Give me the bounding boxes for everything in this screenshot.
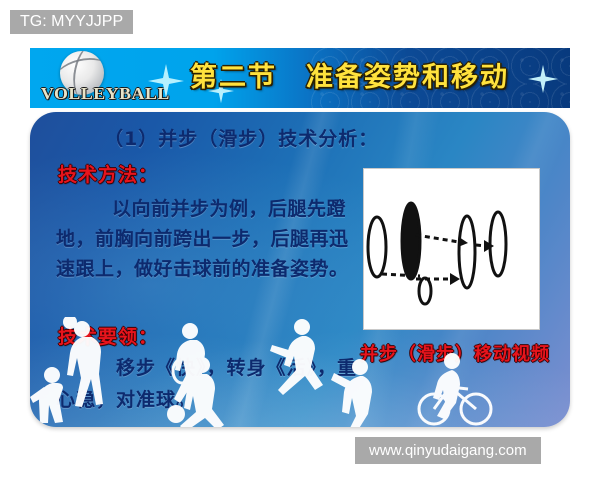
footwork-diagram[interactable]: [363, 168, 540, 330]
presentation-slide: VOLLEYBALL 第二节 准备姿势和移动 （1）并步（滑步）技术分析： 技术…: [0, 0, 600, 480]
watermark-top-left: TG: MYYJJPP: [10, 10, 133, 34]
end-left-foot: [459, 216, 475, 288]
arrowhead-1: [450, 273, 460, 285]
slide-content-panel: （1）并步（滑步）技术分析： 技术方法： 以向前并步为例，后腿先蹬地，前胸向前跨…: [30, 112, 570, 427]
section-text-method: 以向前并步为例，后腿先蹬地，前胸向前跨出一步，后腿再迅速跟上，做好击球前的准备姿…: [56, 194, 356, 284]
end-right-foot: [490, 212, 506, 276]
runner-silhouette: [270, 319, 323, 395]
sports-silhouettes: [30, 317, 570, 427]
start-right-foot: [402, 203, 420, 279]
slide-header-banner: VOLLEYBALL 第二节 准备姿势和移动: [30, 48, 570, 108]
content-heading: （1）并步（滑步）技术分析：: [104, 124, 378, 151]
cyclist-silhouette: [419, 353, 491, 424]
watermark-bottom-right: www.qinyudaigang.com: [355, 437, 541, 464]
gymnast-silhouette: [30, 367, 63, 423]
martial-artist-silhouette: [331, 359, 372, 427]
movement-arrow-3: [416, 235, 459, 242]
section-label-method: 技术方法：: [58, 160, 158, 187]
basketball-player-silhouette: [63, 317, 103, 407]
start-left-foot: [368, 217, 386, 277]
page-title: 第二节 准备姿势和移动: [190, 58, 560, 98]
pivot-foot: [419, 278, 431, 304]
logo-text: VOLLEYBALL: [41, 84, 170, 104]
